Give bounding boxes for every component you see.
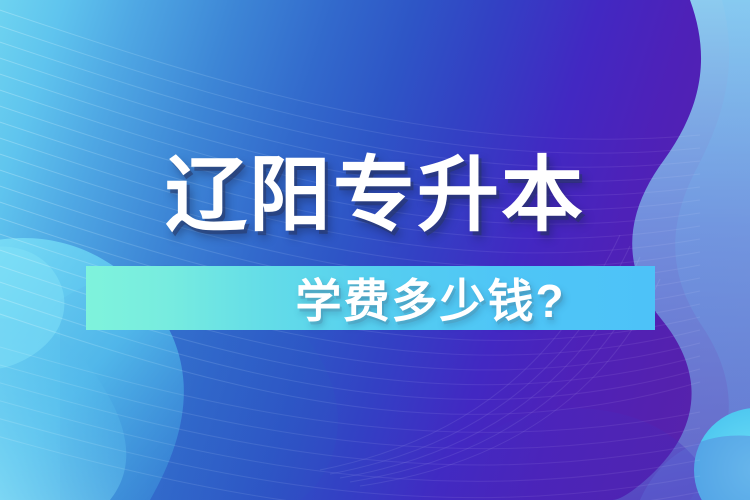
main-title: 辽阳专升本 [165, 155, 585, 237]
subtitle-bar: 学费多少钱? [86, 266, 655, 330]
title-block: 辽阳专升本 [0, 155, 750, 237]
subtitle-text: 学费多少钱? [86, 266, 655, 330]
line-fan-pattern [0, 0, 750, 500]
promo-banner: 辽阳专升本 学费多少钱? [0, 0, 750, 500]
